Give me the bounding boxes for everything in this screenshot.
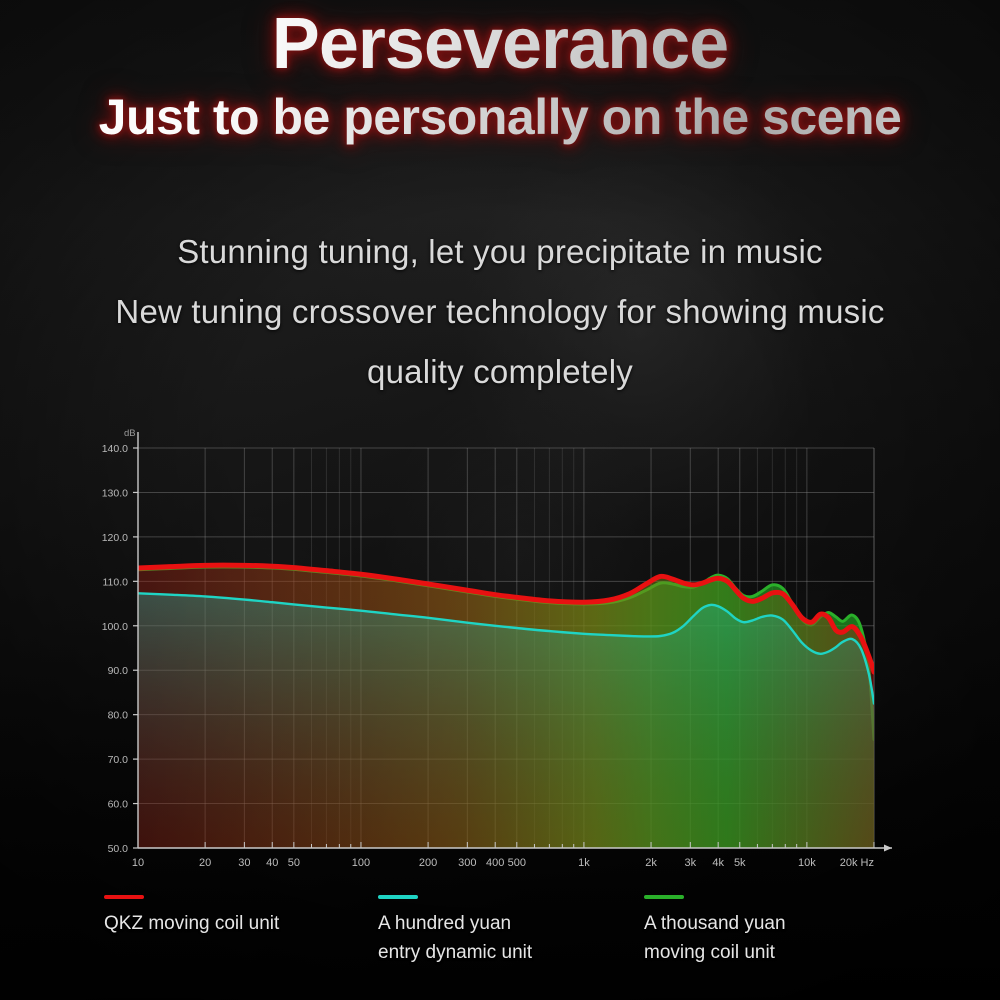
tagline-block: Stunning tuning, let you precipitate in … xyxy=(0,222,1000,402)
page-subtitle: Just to be personally on the scene xyxy=(0,84,1000,145)
x-tick-label: 100 xyxy=(352,857,370,869)
y-tick-label: 130.0 xyxy=(102,487,128,499)
y-tick-label: 60.0 xyxy=(108,799,129,811)
page-title: Perseverance xyxy=(0,0,1000,84)
legend-swatch-qkz xyxy=(104,895,144,899)
x-tick-label: 500 xyxy=(508,857,526,869)
y-tick-label: 70.0 xyxy=(108,754,129,766)
x-axis-arrow xyxy=(884,845,892,852)
legend-item-hundred-yuan[interactable]: A hundred yuan entry dynamic unit xyxy=(378,895,532,967)
legend-swatch-thousand-yuan xyxy=(644,895,684,899)
frequency-response-chart: 140.0130.0120.0110.0100.090.080.070.060.… xyxy=(0,410,1000,880)
x-tick-label: 3k xyxy=(684,857,696,869)
headings-block: Perseverance Just to be personally on th… xyxy=(0,0,1000,145)
frequency-response-plot: 140.0130.0120.0110.0100.090.080.070.060.… xyxy=(0,410,1000,880)
legend-swatch-hundred-yuan xyxy=(378,895,418,899)
y-tick-label: 50.0 xyxy=(108,843,129,855)
x-tick-label: 10 xyxy=(132,857,144,869)
x-tick-label: 50 xyxy=(288,857,300,869)
y-tick-label: 140.0 xyxy=(102,443,128,455)
chart-series-layer xyxy=(138,565,874,848)
x-tick-label: 2k xyxy=(645,857,657,869)
x-tick-label: 1k xyxy=(578,857,590,869)
y-axis-unit-label: dB xyxy=(124,428,136,439)
x-tick-label: 20k Hz xyxy=(840,857,874,869)
y-tick-label: 80.0 xyxy=(108,710,129,722)
tagline-line-1: Stunning tuning, let you precipitate in … xyxy=(0,222,1000,282)
x-tick-label: 30 xyxy=(238,857,250,869)
legend-label-hundred-yuan: A hundred yuan entry dynamic unit xyxy=(378,909,532,967)
y-tick-label: 110.0 xyxy=(103,576,129,588)
y-tick-label: 120.0 xyxy=(102,532,128,544)
series-area-hundred-yuan xyxy=(138,593,874,848)
chart-legend: QKZ moving coil unit A hundred yuan entr… xyxy=(0,895,1000,1000)
tagline-line-2: New tuning crossover technology for show… xyxy=(0,282,1000,342)
x-tick-label: 10k xyxy=(798,857,816,869)
x-tick-label: 20 xyxy=(199,857,211,869)
x-tick-label: 5k xyxy=(734,857,746,869)
x-tick-label: 400 xyxy=(486,857,504,869)
legend-item-thousand-yuan[interactable]: A thousand yuan moving coil unit xyxy=(644,895,786,967)
x-tick-label: 4k xyxy=(712,857,724,869)
x-tick-label: 300 xyxy=(458,857,476,869)
y-tick-label: 90.0 xyxy=(108,665,129,677)
promo-banner: Perseverance Just to be personally on th… xyxy=(0,0,1000,1000)
x-tick-label: 40 xyxy=(266,857,278,869)
legend-label-qkz: QKZ moving coil unit xyxy=(104,909,279,938)
x-tick-label: 200 xyxy=(419,857,437,869)
y-tick-label: 100.0 xyxy=(102,621,128,633)
legend-label-thousand-yuan: A thousand yuan moving coil unit xyxy=(644,909,786,967)
legend-item-qkz[interactable]: QKZ moving coil unit xyxy=(104,895,279,938)
tagline-line-3: quality completely xyxy=(0,342,1000,402)
